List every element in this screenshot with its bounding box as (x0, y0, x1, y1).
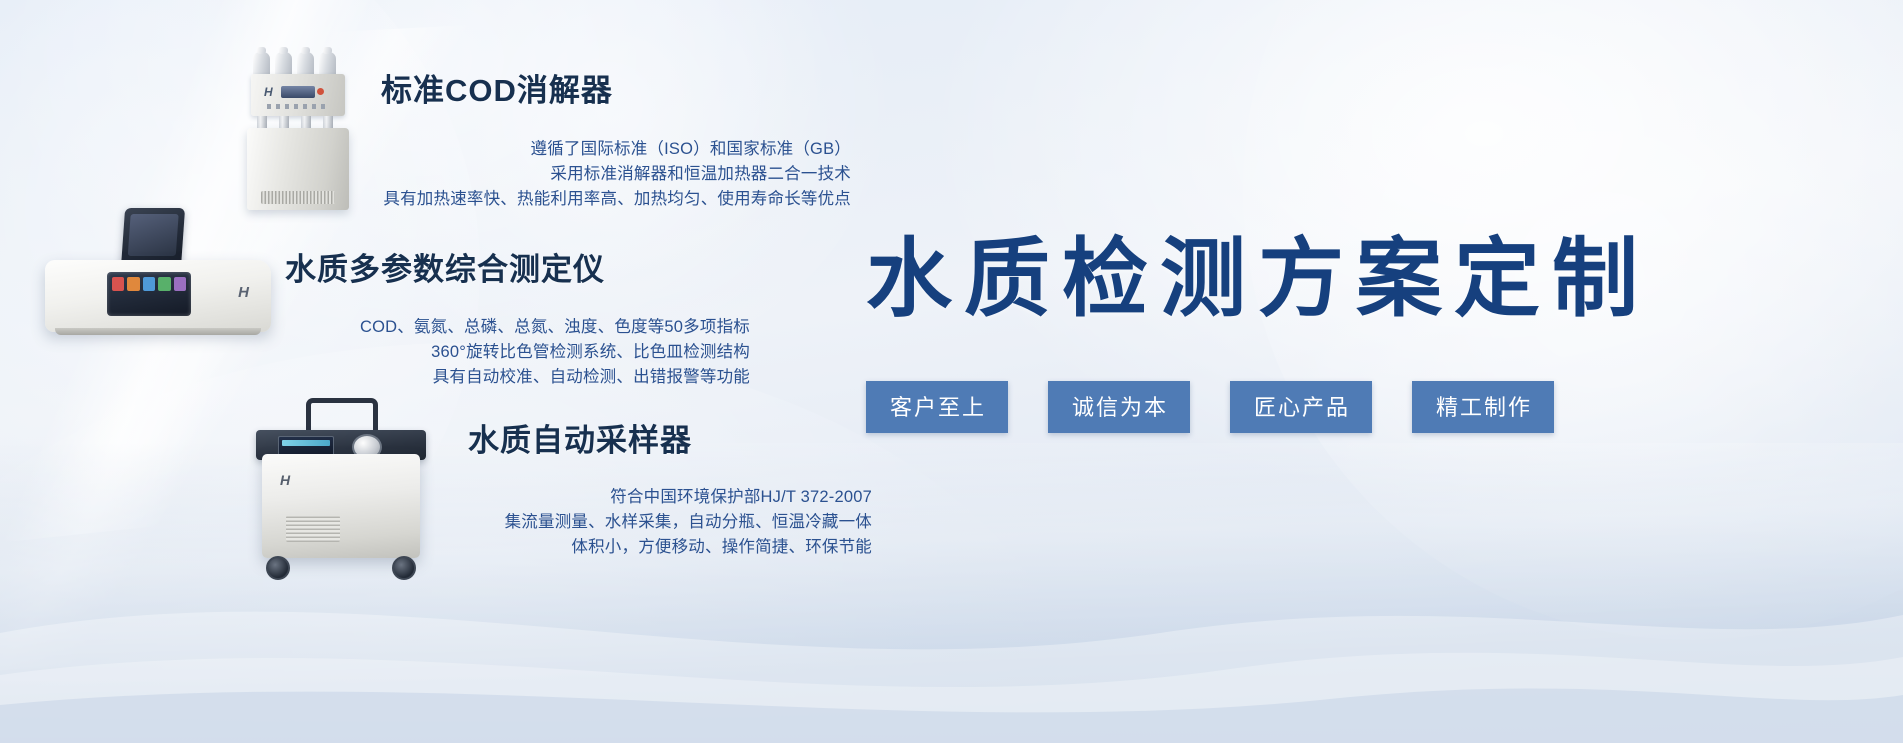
product-block-analyzer: 水质多参数综合测定仪 COD、氨氮、总磷、总氮、浊度、色度等50多项指标 360… (285, 253, 750, 390)
cod-vent-grille (261, 191, 335, 204)
promo-banner: H H (0, 0, 1903, 743)
product-desc-line: 采用标准消解器和恒温加热器二合一技术 (381, 162, 851, 187)
analyzer-key-4 (158, 277, 170, 291)
cod-display-screen (281, 86, 315, 98)
sampler-cabinet: H (262, 454, 420, 558)
analyzer-foot (55, 328, 261, 335)
product-description-cod-digester: 遵循了国际标准（ISO）和国家标准（GB） 采用标准消解器和恒温加热器二合一技术… (381, 137, 851, 212)
cod-control-head: H (251, 74, 345, 116)
tag-fine-workmanship[interactable]: 精工制作 (1412, 381, 1554, 433)
tag-craftsmanship[interactable]: 匠心产品 (1230, 381, 1372, 433)
product-block-auto-sampler: 水质自动采样器 符合中国环境保护部HJ/T 372-2007 集流量测量、水样采… (468, 424, 872, 560)
sampler-wheel-right (392, 556, 416, 580)
sampler-wheel-left (266, 556, 290, 580)
analyzer-touch-panel (107, 272, 191, 316)
cod-digester-image: H (239, 50, 357, 215)
analyzer-key-5 (174, 277, 186, 291)
cod-heater-body (247, 128, 349, 210)
product-desc-line: 具有加热速率快、热能利用率高、加热均匀、使用寿命长等优点 (381, 187, 851, 212)
product-title-cod-digester: 标准COD消解器 (381, 74, 851, 108)
cod-button-row (267, 104, 329, 109)
analyzer-base: H (45, 260, 271, 332)
analyzer-brand-logo: H (238, 284, 249, 301)
analyzer-lid-inner (128, 214, 179, 256)
auto-sampler-image: H (248, 398, 448, 583)
analyzer-key-2 (127, 277, 139, 291)
analyzer-image: H (45, 208, 275, 338)
cod-status-led-icon (317, 88, 324, 95)
tag-customer-first[interactable]: 客户至上 (866, 381, 1008, 433)
product-desc-line: 符合中国环境保护部HJ/T 372-2007 (468, 485, 872, 510)
analyzer-key-row (112, 277, 186, 291)
product-description-auto-sampler: 符合中国环境保护部HJ/T 372-2007 集流量测量、水样采集，自动分瓶、恒… (468, 485, 872, 560)
main-headline: 水质检测方案定制 (866, 236, 1650, 322)
cod-brand-logo: H (264, 85, 277, 99)
analyzer-lid (121, 208, 185, 268)
product-title-analyzer: 水质多参数综合测定仪 (285, 253, 750, 287)
product-desc-line: 集流量测量、水样采集，自动分瓶、恒温冷藏一体 (468, 510, 872, 535)
sampler-brand-logo: H (280, 472, 290, 488)
product-desc-line: COD、氨氮、总磷、总氮、浊度、色度等50多项指标 (285, 315, 750, 340)
sampler-vent-grille (286, 516, 340, 542)
product-desc-line: 体积小，方便移动、操作简捷、环保节能 (468, 535, 872, 560)
sampler-control-screen (278, 436, 334, 456)
product-title-auto-sampler: 水质自动采样器 (468, 424, 872, 458)
tag-integrity[interactable]: 诚信为本 (1048, 381, 1190, 433)
tag-list: 客户至上 诚信为本 匠心产品 精工制作 (866, 381, 1554, 433)
product-desc-line: 遵循了国际标准（ISO）和国家标准（GB） (381, 137, 851, 162)
analyzer-key-1 (112, 277, 124, 291)
product-description-analyzer: COD、氨氮、总磷、总氮、浊度、色度等50多项指标 360°旋转比色管检测系统、… (285, 315, 750, 390)
product-block-cod-digester: 标准COD消解器 遵循了国际标准（ISO）和国家标准（GB） 采用标准消解器和恒… (381, 74, 851, 212)
product-desc-line: 具有自动校准、自动检测、出错报警等功能 (285, 365, 750, 390)
product-desc-line: 360°旋转比色管检测系统、比色皿检测结构 (285, 340, 750, 365)
analyzer-key-3 (143, 277, 155, 291)
